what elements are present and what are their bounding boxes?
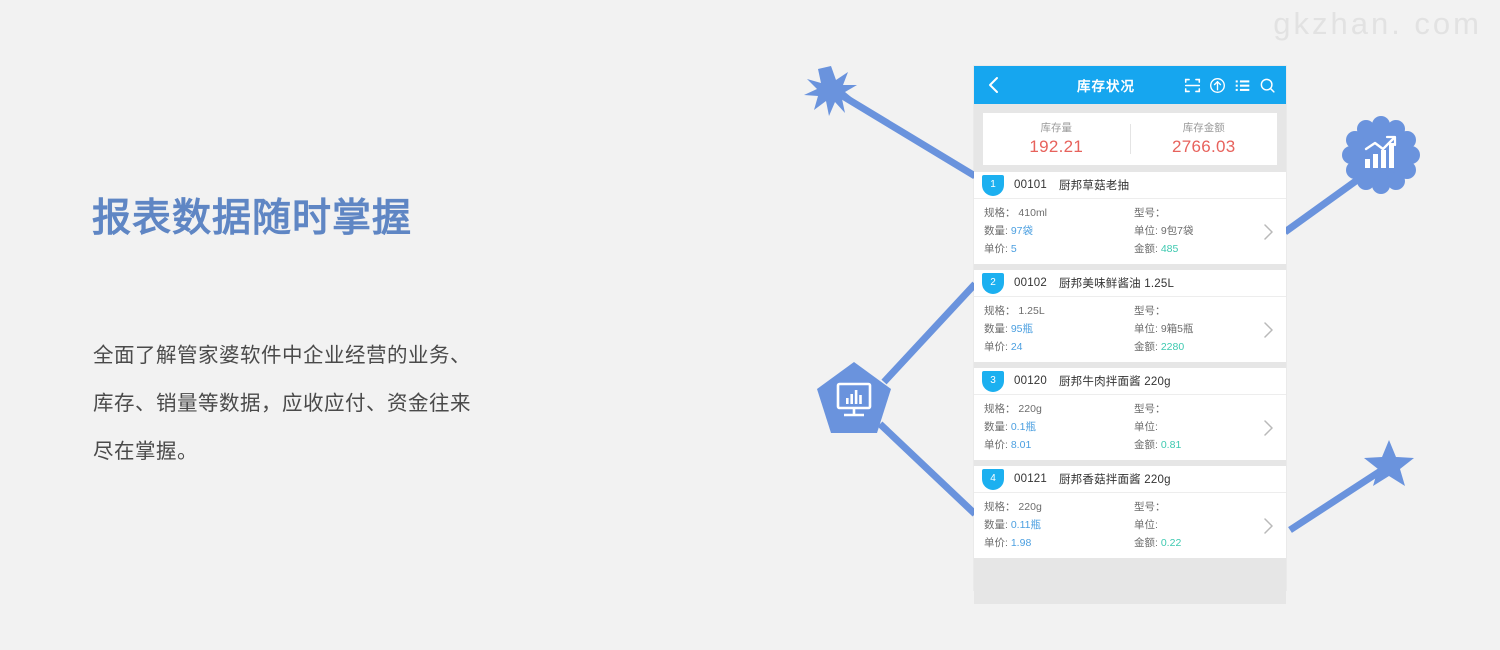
poster-stage: gkzhan. com 报表数据随时掌握 全面了解管家婆软件中企业经营的业务、 … <box>0 0 1500 650</box>
connector-line-star <box>1290 470 1382 530</box>
list-item[interactable]: 100101厨邦草菇老抽规格： 410ml型号： 数量: 97袋单位: 9包7袋… <box>974 172 1286 264</box>
item-field-value: 95瓶 <box>1011 323 1033 335</box>
bar-chart-bars <box>846 390 862 404</box>
item-field-label: 型号： <box>1134 207 1166 219</box>
five-point-star-shape <box>1364 440 1414 486</box>
item-field: 规格： 220g <box>974 400 1130 418</box>
chevron-right-icon[interactable] <box>1263 517 1274 535</box>
summary-value: 2766.03 <box>1131 136 1278 158</box>
summary-card: 库存量 192.21 库存金额 2766.03 <box>983 113 1277 165</box>
item-code: 00102 <box>1014 277 1047 289</box>
bar-chart-trend-icon <box>1365 137 1395 168</box>
pentagon-shape <box>817 362 891 433</box>
item-field-value: 1.25L <box>1018 305 1044 317</box>
item-field-label: 单位: <box>1134 323 1158 335</box>
item-field-label: 数量: <box>984 225 1008 237</box>
monitor-bar-chart-icon <box>838 384 870 415</box>
header-icon-group <box>1184 77 1276 94</box>
app-header: 库存状况 <box>974 66 1286 104</box>
item-name: 厨邦香菇拌面酱 220g <box>1059 471 1171 487</box>
item-field: 金额: 485 <box>1130 240 1286 258</box>
list-icon[interactable] <box>1234 77 1251 94</box>
item-field: 型号： <box>1130 498 1286 516</box>
item-field: 金额: 0.81 <box>1130 436 1286 454</box>
inventory-list: 100101厨邦草菇老抽规格： 410ml型号： 数量: 97袋单位: 9包7袋… <box>974 172 1286 558</box>
cloud-chart-badge <box>1342 116 1420 194</box>
paragraph-line: 全面了解管家婆软件中企业经营的业务、 <box>93 332 613 380</box>
summary-value: 192.21 <box>983 136 1130 158</box>
item-index-badge: 2 <box>982 273 1004 294</box>
starburst-shape <box>804 66 857 116</box>
item-field-label: 金额: <box>1134 341 1158 353</box>
item-field-label: 型号： <box>1134 501 1166 513</box>
item-field: 规格： 220g <box>974 498 1130 516</box>
item-field: 数量: 97袋 <box>974 222 1130 240</box>
item-field: 型号： <box>1130 302 1286 320</box>
item-field: 单价: 1.98 <box>974 534 1130 552</box>
item-name: 厨邦牛肉拌面酱 220g <box>1059 373 1171 389</box>
item-field: 数量: 95瓶 <box>974 320 1130 338</box>
chevron-right-icon[interactable] <box>1263 223 1274 241</box>
item-field-value: 9包7袋 <box>1161 225 1194 237</box>
item-field-value: 24 <box>1011 341 1023 353</box>
marketing-paragraph: 全面了解管家婆软件中企业经营的业务、 库存、销量等数据，应收应付、资金往来 尽在… <box>93 332 613 476</box>
item-field-value: 2280 <box>1161 341 1184 353</box>
paragraph-line: 尽在掌握。 <box>93 428 613 476</box>
item-field-label: 金额: <box>1134 243 1158 255</box>
item-field-value: 97袋 <box>1011 225 1033 237</box>
item-field-value: 0.81 <box>1161 439 1181 451</box>
item-field-value: 1.98 <box>1011 537 1031 549</box>
summary-cell-quantity: 库存量 192.21 <box>983 120 1130 158</box>
item-field: 型号： <box>1130 204 1286 222</box>
item-name: 厨邦美味鲜酱油 1.25L <box>1059 275 1174 291</box>
item-field-value: 220g <box>1018 403 1041 415</box>
phone-mockup: 库存状况 <box>974 66 1286 590</box>
item-field-label: 单价: <box>984 243 1008 255</box>
item-field-label: 型号： <box>1134 305 1166 317</box>
item-code: 00101 <box>1014 179 1047 191</box>
list-item-body: 规格： 220g型号： 数量: 0.11瓶单位: 单价: 1.98金额: 0.2… <box>974 493 1286 558</box>
item-field-row: 数量: 95瓶单位: 9箱5瓶 <box>974 320 1286 338</box>
item-field-value: 410ml <box>1018 207 1047 219</box>
chevron-right-icon[interactable] <box>1263 419 1274 437</box>
item-field-row: 规格： 410ml型号： <box>974 204 1286 222</box>
list-footer-space <box>974 558 1286 604</box>
item-field-row: 单价: 5金额: 485 <box>974 240 1286 258</box>
page-title: 报表数据随时掌握 <box>92 196 412 243</box>
item-field: 规格： 1.25L <box>974 302 1130 320</box>
item-field-value: 0.1瓶 <box>1011 421 1036 433</box>
list-item-body: 规格： 1.25L型号： 数量: 95瓶单位: 9箱5瓶单价: 24金额: 22… <box>974 297 1286 362</box>
list-item[interactable]: 400121厨邦香菇拌面酱 220g规格： 220g型号： 数量: 0.11瓶单… <box>974 460 1286 558</box>
connector-line-cloud <box>1285 178 1360 232</box>
app-title: 库存状况 <box>1004 75 1184 95</box>
item-field-label: 数量: <box>984 421 1008 433</box>
item-field-label: 金额: <box>1134 537 1158 549</box>
item-field-label: 单价: <box>984 439 1008 451</box>
item-field: 型号： <box>1130 400 1286 418</box>
item-field-label: 单位: <box>1134 225 1158 237</box>
item-index-badge: 1 <box>982 175 1004 196</box>
item-field-label: 规格： <box>984 305 1016 317</box>
item-field-value: 220g <box>1018 501 1041 513</box>
item-index-badge: 4 <box>982 469 1004 490</box>
item-index-badge: 3 <box>982 371 1004 392</box>
item-field-label: 规格： <box>984 501 1016 513</box>
item-field-label: 单位: <box>1134 421 1158 433</box>
scalloped-cloud-shape <box>1342 116 1420 194</box>
search-icon[interactable] <box>1259 77 1276 94</box>
item-field-row: 规格： 1.25L型号： <box>974 302 1286 320</box>
item-field-value: 9箱5瓶 <box>1161 323 1194 335</box>
list-item-body: 规格： 410ml型号： 数量: 97袋单位: 9包7袋单价: 5金额: 485 <box>974 199 1286 264</box>
star-badge <box>1364 440 1414 486</box>
item-field-label: 单位: <box>1134 519 1158 531</box>
starburst-badge <box>804 66 857 116</box>
item-field-label: 单价: <box>984 341 1008 353</box>
item-field-row: 单价: 24金额: 2280 <box>974 338 1286 356</box>
item-field-label: 数量: <box>984 519 1008 531</box>
summary-cell-amount: 库存金额 2766.03 <box>1131 120 1278 158</box>
item-field-row: 单价: 1.98金额: 0.22 <box>974 534 1286 552</box>
item-field: 金额: 0.22 <box>1130 534 1286 552</box>
item-code: 00120 <box>1014 375 1047 387</box>
item-field-value: 5 <box>1011 243 1017 255</box>
scan-frame-icon[interactable] <box>1184 77 1201 94</box>
item-field: 数量: 0.1瓶 <box>974 418 1130 436</box>
item-field-label: 型号： <box>1134 403 1166 415</box>
item-field-label: 数量: <box>984 323 1008 335</box>
item-field-row: 数量: 0.11瓶单位: <box>974 516 1286 534</box>
item-field: 单价: 24 <box>974 338 1130 356</box>
back-chevron-icon[interactable] <box>984 75 1004 95</box>
item-field: 数量: 0.11瓶 <box>974 516 1130 534</box>
item-code: 00121 <box>1014 473 1047 485</box>
item-field-value: 8.01 <box>1011 439 1031 451</box>
item-name: 厨邦草菇老抽 <box>1059 177 1129 193</box>
item-field-row: 单价: 8.01金额: 0.81 <box>974 436 1286 454</box>
item-field-label: 金额: <box>1134 439 1158 451</box>
item-field-row: 规格： 220g型号： <box>974 498 1286 516</box>
item-field-value: 485 <box>1161 243 1179 255</box>
item-field-label: 规格： <box>984 207 1016 219</box>
item-field: 单价: 8.01 <box>974 436 1130 454</box>
list-item-head: 200102厨邦美味鲜酱油 1.25L <box>974 270 1286 297</box>
list-item[interactable]: 200102厨邦美味鲜酱油 1.25L规格： 1.25L型号： 数量: 95瓶单… <box>974 264 1286 362</box>
item-field: 规格： 410ml <box>974 204 1130 222</box>
list-item-body: 规格： 220g型号： 数量: 0.1瓶单位: 单价: 8.01金额: 0.81 <box>974 395 1286 460</box>
item-field: 金额: 2280 <box>1130 338 1286 356</box>
watermark-text: gkzhan. com <box>1273 6 1482 42</box>
summary-label: 库存量 <box>983 120 1130 136</box>
list-item[interactable]: 300120厨邦牛肉拌面酱 220g规格： 220g型号： 数量: 0.1瓶单位… <box>974 362 1286 460</box>
circle-up-arrow-icon[interactable] <box>1209 77 1226 94</box>
connector-line-pentagon-up <box>884 284 975 382</box>
item-field-label: 规格： <box>984 403 1016 415</box>
list-item-head: 300120厨邦牛肉拌面酱 220g <box>974 368 1286 395</box>
list-item-head: 400121厨邦香菇拌面酱 220g <box>974 466 1286 493</box>
item-field-value: 0.11瓶 <box>1011 519 1041 531</box>
chevron-right-icon[interactable] <box>1263 321 1274 339</box>
item-field-row: 规格： 220g型号： <box>974 400 1286 418</box>
list-item-head: 100101厨邦草菇老抽 <box>974 172 1286 199</box>
connector-line-pentagon-down <box>880 424 975 514</box>
summary-card-wrap: 库存量 192.21 库存金额 2766.03 <box>974 104 1286 165</box>
paragraph-line: 库存、销量等数据，应收应付、资金往来 <box>93 380 613 428</box>
summary-label: 库存金额 <box>1131 120 1278 136</box>
item-field-value: 0.22 <box>1161 537 1181 549</box>
item-field-row: 数量: 0.1瓶单位: <box>974 418 1286 436</box>
item-field-row: 数量: 97袋单位: 9包7袋 <box>974 222 1286 240</box>
item-field-label: 单价: <box>984 537 1008 549</box>
connector-line-top-left <box>836 92 975 176</box>
monitor-pentagon-badge <box>817 362 891 433</box>
item-field: 单价: 5 <box>974 240 1130 258</box>
